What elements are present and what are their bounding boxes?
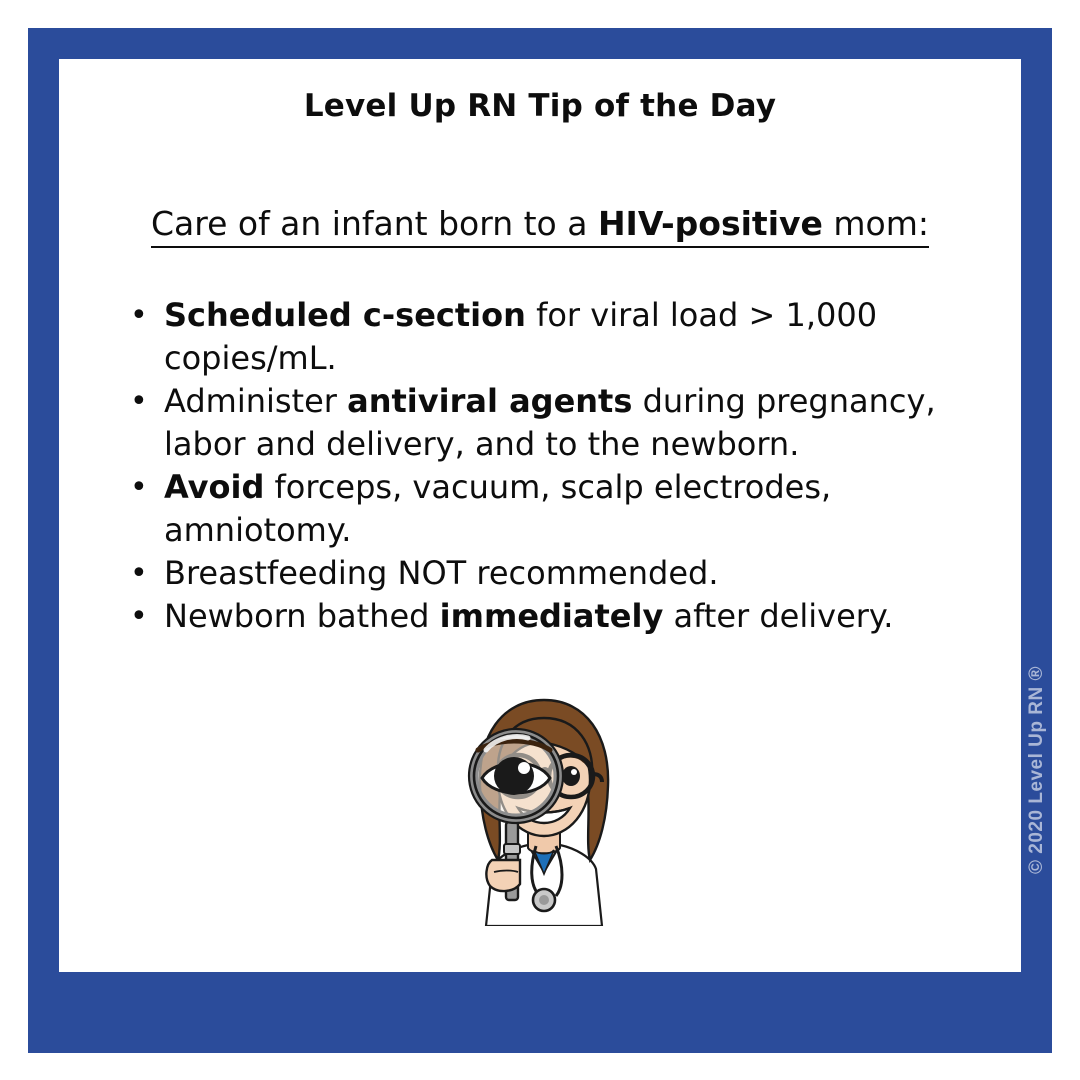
frame-band-bottom [28,972,1052,1053]
frame-band-right [1021,28,1052,1053]
list-item-text: Administer antiviral agents during pregn… [164,380,980,466]
list-item-text: Scheduled c-section for viral load > 1,0… [164,294,980,380]
bullet-marker-icon: • [130,552,164,595]
list-item-bold: antiviral agents [347,382,632,420]
bullet-marker-icon: • [130,595,164,638]
subtitle-text-before: Care of an infant born to a [151,204,598,243]
list-item-bold: immediately [440,597,664,635]
subtitle-text-after: mom: [823,204,929,243]
tip-of-the-day-card: Level Up RN Tip of the Day Care of an in… [0,0,1080,1080]
page-title: Level Up RN Tip of the Day [59,88,1021,124]
tip-bullet-list: • Scheduled c-section for viral load > 1… [130,294,980,638]
nurse-avatar-illustration [452,694,636,926]
list-item: • Newborn bathed immediately after deliv… [130,595,980,638]
frame-band-left [28,28,59,1053]
bullet-marker-icon: • [130,466,164,509]
list-item: • Administer antiviral agents during pre… [130,380,980,466]
list-item-plain-prefix: Newborn bathed [164,597,440,635]
list-item-plain-prefix: Administer [164,382,347,420]
list-item-bold: Scheduled c-section [164,296,526,334]
bullet-marker-icon: • [130,294,164,337]
list-item-rest: forceps, vacuum, scalp electrodes, amnio… [164,468,831,549]
list-item-text: Breastfeeding NOT recommended. [164,552,980,595]
list-item: • Avoid forceps, vacuum, scalp electrode… [130,466,980,552]
list-item-bold: Avoid [164,468,264,506]
list-item: • Breastfeeding NOT recommended. [130,552,980,595]
subtitle: Care of an infant born to a HIV-positive… [59,204,1021,243]
frame-band-top [28,28,1052,59]
subtitle-text-bold: HIV-positive [598,204,823,243]
list-item: • Scheduled c-section for viral load > 1… [130,294,980,380]
list-item-text: Avoid forceps, vacuum, scalp electrodes,… [164,466,980,552]
list-item-rest: after delivery. [663,597,893,635]
list-item-text: Newborn bathed immediately after deliver… [164,595,980,638]
list-item-plain-prefix: Breastfeeding NOT recommended. [164,554,718,592]
bullet-marker-icon: • [130,380,164,423]
